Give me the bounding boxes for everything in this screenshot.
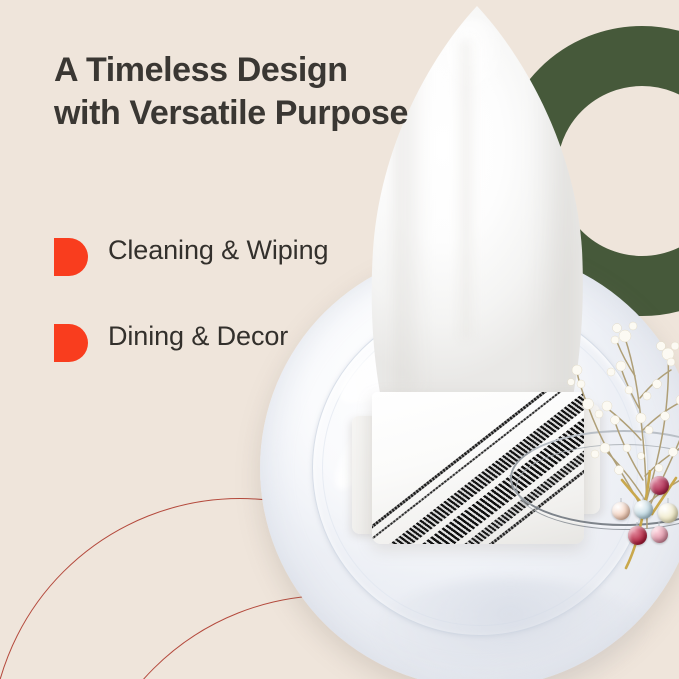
feature-item-dining-decor: Dining & Decor xyxy=(54,318,354,362)
napkin-fold-center xyxy=(456,40,476,340)
page-title: A Timeless Design with Versatile Purpose xyxy=(54,49,414,135)
bead-magenta xyxy=(650,476,669,495)
feature-item-cleaning-wiping: Cleaning & Wiping xyxy=(54,232,354,276)
promo-canvas: A Timeless Design with Versatile Purpose… xyxy=(0,0,679,679)
flag-marker-icon xyxy=(54,324,88,362)
bead-pink xyxy=(651,526,668,543)
bead-peach xyxy=(612,502,630,520)
bead-ivory xyxy=(658,503,678,523)
feature-item-label: Dining & Decor xyxy=(108,318,288,355)
feature-item-label: Cleaning & Wiping xyxy=(108,232,328,269)
bead-dark-red xyxy=(628,526,647,545)
flag-marker-icon xyxy=(54,238,88,276)
bead-blue xyxy=(634,500,653,519)
beaded-charm-cluster xyxy=(606,470,679,570)
feature-list: Cleaning & Wiping Dining & Decor xyxy=(54,232,354,404)
